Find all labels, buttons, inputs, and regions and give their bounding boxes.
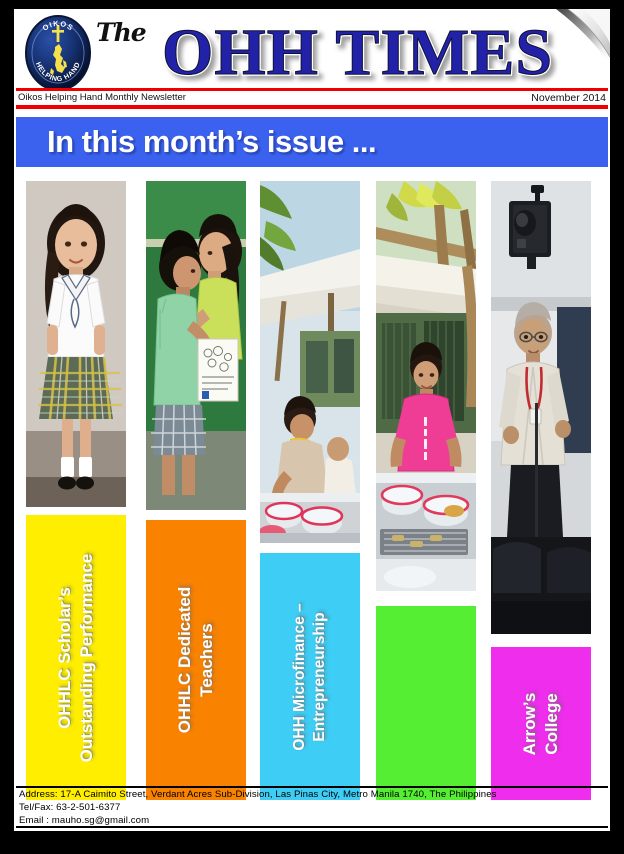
newsletter-page: OIKOS HELPING HAND The OHH TIMES OHH TIM…: [0, 0, 624, 854]
photo-college: [491, 181, 591, 634]
footer-address: Address: 17-A Caimito Street, Verdant Ac…: [19, 788, 497, 801]
oikos-helping-hand-logo-icon: OIKOS HELPING HAND: [22, 14, 94, 92]
section-label-microfinance-line1: OHH Microfinance –: [291, 603, 308, 750]
issue-banner-label: In this month’s issue ...: [47, 124, 376, 160]
section-label-scholar-line1: OHHLC Scholar’s: [55, 587, 74, 729]
photo-microfinance: [260, 181, 360, 543]
masthead-rule-bottom: [16, 105, 608, 109]
section-label-microfinance: OHH Microfinance – Entrepreneurship: [290, 603, 330, 750]
section-label-college-line2: College: [542, 693, 561, 754]
section-box-college[interactable]: Arrow’s College: [491, 647, 591, 800]
section-label-college-line1: Arrow’s: [520, 692, 539, 755]
masthead-title: OHH TIMES OHH TIMES: [162, 18, 582, 88]
section-label-teachers-line2: Teachers: [197, 623, 216, 696]
section-box-microfinance[interactable]: OHH Microfinance – Entrepreneurship: [260, 553, 360, 800]
issue-date: November 2014: [531, 91, 606, 105]
section-box-teachers[interactable]: OHHLC Dedicated Teachers: [146, 520, 246, 800]
photo-scholar: [26, 181, 126, 507]
section-label-scholar: OHHLC Scholar’s Outstanding Performance: [54, 553, 98, 762]
footer-contact-block: Address: 17-A Caimito Street, Verdant Ac…: [19, 788, 497, 827]
svg-text:OHH TIMES: OHH TIMES: [162, 18, 553, 88]
footer-email: Email : mauho.sg@gmail.com: [19, 814, 497, 827]
page-corner-fold-icon: [538, 9, 610, 75]
photo-teachers: [146, 181, 246, 510]
strapline-left: Oikos Helping Hand Monthly Newsletter: [18, 91, 186, 105]
section-label-teachers: OHHLC Dedicated Teachers: [174, 587, 218, 733]
section-label-microfinance-line2: Entrepreneurship: [311, 612, 328, 741]
section-label-scholar-line2: Outstanding Performance: [77, 553, 96, 762]
section-box-scholar[interactable]: OHHLC Scholar’s Outstanding Performance: [26, 515, 126, 800]
photo-entrepreneur: [376, 181, 476, 591]
section-label-college: Arrow’s College: [519, 692, 563, 755]
section-label-teachers-line1: OHHLC Dedicated: [175, 587, 194, 733]
masthead-the-word: The: [96, 18, 146, 47]
footer-telfax: Tel/Fax: 63-2-501-6377: [19, 801, 497, 814]
section-box-entrepreneur[interactable]: [376, 606, 476, 800]
